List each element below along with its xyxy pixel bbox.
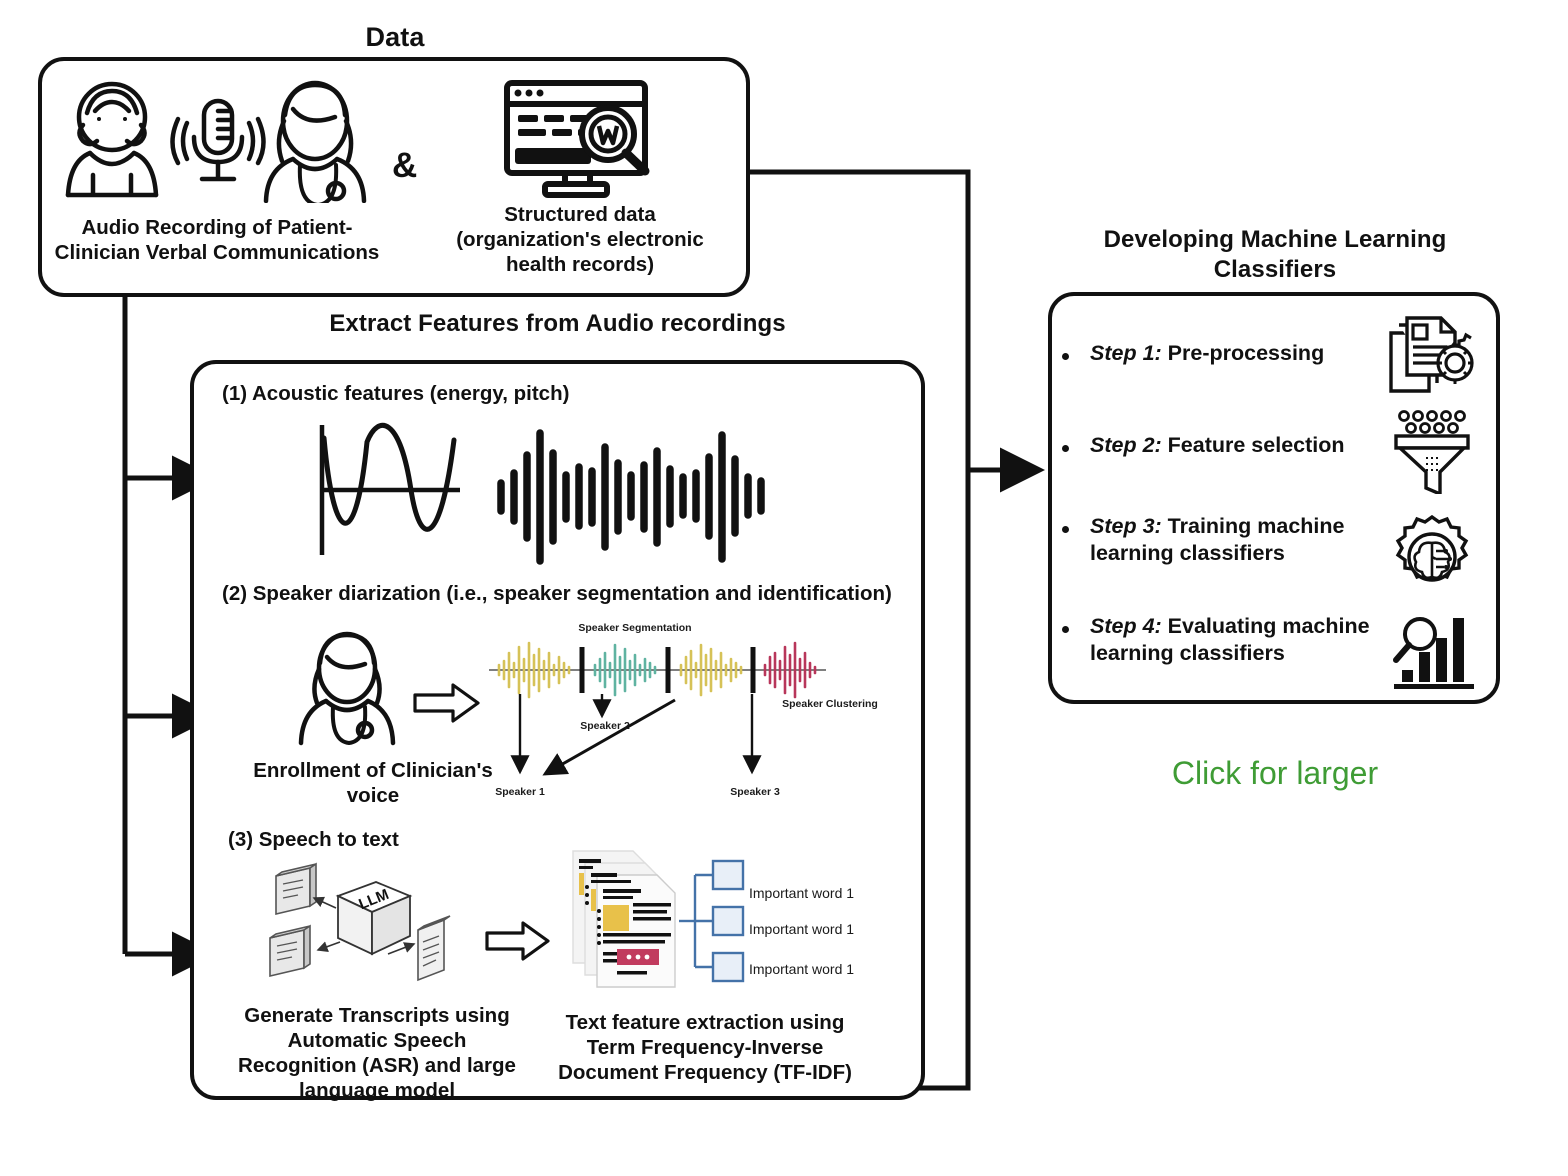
label-speaker-segmentation: Speaker Segmentation xyxy=(570,622,700,634)
clinician-icon xyxy=(255,75,375,203)
step-4-item: Step 4: Evaluating machine learning clas… xyxy=(1090,613,1410,667)
hollow-arrow-tfidf-icon xyxy=(485,920,551,962)
step-3-label: Step 3: xyxy=(1090,514,1162,538)
tfidf-caption: Text feature extraction using Term Frequ… xyxy=(540,1010,870,1085)
label-speaker-2: Speaker 2 xyxy=(565,720,645,732)
label-speaker-clustering: Speaker Clustering xyxy=(770,698,890,710)
sine-wave-icon xyxy=(312,420,467,560)
brain-gear-icon xyxy=(1390,515,1474,599)
step-3-bullet xyxy=(1062,526,1069,533)
step-2-text: Feature selection xyxy=(1168,433,1345,457)
step-2-item: Step 2: Feature selection xyxy=(1090,432,1390,459)
audio-waveform-icon xyxy=(495,425,775,567)
section-acoustic-features-label: (1) Acoustic features (energy, pitch) xyxy=(222,382,569,406)
click-for-larger-link[interactable]: Click for larger xyxy=(1060,755,1490,792)
llm-transcription-icon: LLM xyxy=(258,858,453,993)
label-speaker-3: Speaker 3 xyxy=(715,786,795,798)
tfidf-word-1: Important word 1 xyxy=(749,885,854,901)
step-2-label: Step 2: xyxy=(1090,433,1162,457)
chart-magnifier-icon xyxy=(1390,612,1478,690)
section-speaker-diarization-label: (2) Speaker diarization (i.e., speaker s… xyxy=(222,582,892,606)
diarization-arrows xyxy=(480,690,800,800)
ampersand-label: & xyxy=(392,146,417,186)
step-1-bullet xyxy=(1062,353,1069,360)
enrollment-caption: Enrollment of Clinician's voice xyxy=(248,758,498,808)
section-speech-to-text-label: (3) Speech to text xyxy=(228,828,399,852)
step-1-text: Pre-processing xyxy=(1168,341,1325,365)
data-structured-caption: Structured data (organization's electron… xyxy=(430,202,730,277)
enrollment-clinician-icon xyxy=(292,625,402,750)
step-2-bullet xyxy=(1062,445,1069,452)
structured-data-monitor-icon xyxy=(495,78,665,198)
data-panel-title: Data xyxy=(260,22,530,53)
microphone-icon xyxy=(168,93,268,191)
tfidf-word-2: Important word 1 xyxy=(749,921,854,937)
funnel-icon xyxy=(1388,410,1476,494)
extract-panel-title: Extract Features from Audio recordings xyxy=(255,310,860,338)
step-4-bullet xyxy=(1062,626,1069,633)
step-3-item: Step 3: Training machine learning classi… xyxy=(1090,513,1390,567)
step-1-label: Step 1: xyxy=(1090,341,1162,365)
step-4-label: Step 4: xyxy=(1090,614,1162,638)
hollow-arrow-icon xyxy=(413,682,481,724)
document-gear-icon xyxy=(1385,315,1477,397)
asr-caption: Generate Transcripts using Automatic Spe… xyxy=(232,1003,522,1103)
ml-panel-title: Developing Machine Learning Classifiers xyxy=(1060,225,1490,285)
step-1-item: Step 1: Pre-processing xyxy=(1090,340,1390,367)
tfidf-word-3: Important word 1 xyxy=(749,961,854,977)
patient-icon xyxy=(55,75,170,200)
diagram-canvas: Data xyxy=(0,0,1568,1176)
data-audio-caption: Audio Recording of Patient-Clinician Ver… xyxy=(42,215,392,265)
